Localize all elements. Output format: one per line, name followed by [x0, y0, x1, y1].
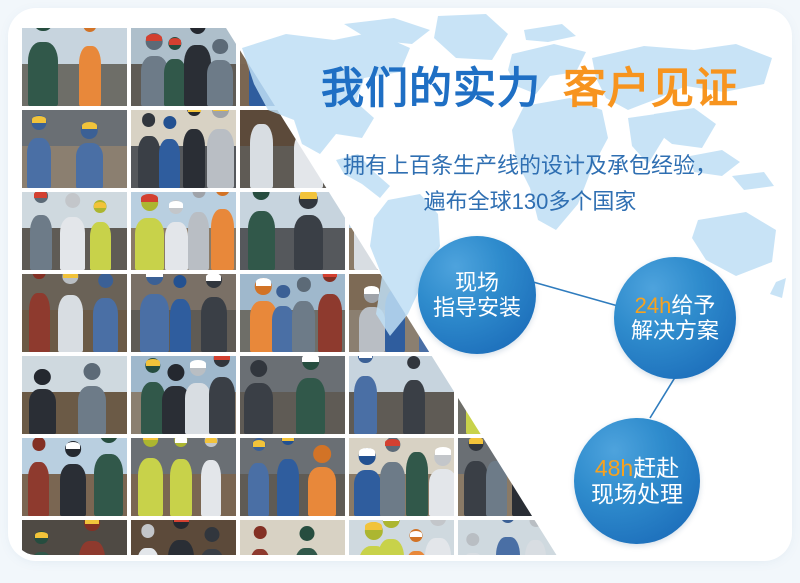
hard-hat-icon	[383, 520, 399, 521]
mosaic-photo	[240, 438, 345, 516]
photo-person	[429, 469, 454, 516]
hard-hat-icon	[359, 356, 372, 358]
photo-person	[211, 209, 235, 270]
banner-subtitle: 拥有上百条生产线的设计及承包经验， 遍布全球130多个国家	[280, 148, 780, 220]
photo-person	[58, 295, 83, 352]
hard-hat-icon	[359, 448, 375, 456]
photo-person	[296, 378, 324, 434]
mosaic-photo	[22, 520, 127, 555]
hard-hat-icon	[175, 438, 187, 443]
mosaic-photo	[22, 356, 127, 434]
photo-person	[272, 306, 294, 352]
mosaic-photo	[22, 192, 127, 270]
service-bubble-48h[interactable]: 48h赶赴 现场处理	[574, 418, 700, 544]
hard-hat-icon	[469, 438, 483, 444]
mosaic-photo	[131, 274, 236, 352]
hard-hat-icon	[385, 439, 399, 446]
photo-person	[28, 42, 58, 106]
mosaic-photo	[131, 28, 236, 106]
photo-person	[308, 467, 337, 516]
photo-person	[354, 376, 377, 434]
mosaic-photo	[131, 110, 236, 188]
photo-person	[29, 389, 55, 434]
hard-hat-icon	[256, 278, 271, 286]
bubble-48h-accent: 48h	[595, 455, 633, 481]
mosaic-photo	[131, 192, 236, 270]
bubble-24h-line2: 解决方案	[631, 318, 719, 343]
headline-primary: 我们的实力	[321, 65, 541, 113]
hard-hat-icon	[66, 442, 81, 449]
hard-hat-icon	[146, 359, 160, 366]
hard-hat-icon	[35, 532, 47, 538]
bubble-48h-line2: 现场处理	[591, 481, 683, 507]
hard-hat-icon	[141, 194, 157, 202]
photo-person	[170, 299, 191, 352]
hard-hat-icon	[143, 438, 158, 440]
mosaic-photo	[349, 356, 454, 434]
hard-hat-icon	[205, 438, 217, 443]
photo-person	[277, 459, 298, 516]
photo-person	[250, 124, 273, 188]
mosaic-photo	[131, 520, 236, 555]
photo-person	[496, 537, 519, 555]
photo-person	[185, 383, 211, 434]
photo-person	[93, 298, 118, 352]
photo-person	[354, 470, 381, 516]
hard-hat-icon	[169, 38, 181, 44]
photo-person	[30, 215, 52, 270]
subtitle-line-1: 拥有上百条生产线的设计及承包经验，	[280, 148, 780, 184]
photo-person	[60, 464, 85, 516]
hard-hat-icon	[190, 360, 205, 368]
photo-person	[318, 294, 341, 352]
bubble-24h-accent: 24h	[635, 293, 672, 318]
banner-headline: 我们的实力客户见证	[280, 68, 780, 111]
photo-person	[292, 301, 315, 352]
service-bubble-onsite[interactable]: 现场 指导安装	[418, 236, 536, 354]
photo-person	[140, 294, 168, 352]
hard-hat-icon	[82, 122, 98, 130]
photo-person	[135, 218, 163, 270]
hard-hat-icon	[282, 438, 294, 441]
photo-person	[248, 463, 269, 516]
hard-hat-icon	[85, 520, 100, 524]
mosaic-photo	[131, 356, 236, 434]
hard-hat-icon	[34, 192, 47, 198]
photo-person	[170, 459, 192, 516]
photo-person	[138, 136, 160, 188]
bubble-onsite-line2: 指导安装	[433, 295, 521, 320]
hard-hat-icon	[364, 286, 379, 294]
bubble-24h-line1: 24h给予	[635, 293, 716, 318]
photo-person	[94, 454, 123, 516]
headline-accent: 客户见证	[563, 65, 739, 113]
photo-person	[248, 211, 275, 270]
hard-hat-icon	[94, 202, 106, 208]
photo-person	[60, 217, 85, 270]
photo-person	[183, 129, 205, 188]
photo-person	[79, 46, 101, 106]
photo-person	[79, 541, 104, 555]
photo-person	[28, 462, 49, 516]
hard-hat-icon	[206, 274, 221, 281]
hard-hat-icon	[302, 356, 318, 362]
photo-person	[207, 60, 232, 106]
mosaic-photo	[22, 274, 127, 352]
hard-hat-icon	[188, 110, 201, 112]
photo-person	[209, 377, 236, 434]
photo-person	[29, 293, 49, 352]
photo-person	[165, 222, 188, 270]
mosaic-photo	[349, 438, 454, 516]
photo-person	[27, 138, 51, 188]
hard-hat-icon	[63, 274, 77, 278]
hard-hat-icon	[169, 201, 182, 208]
photo-person	[159, 139, 180, 188]
photo-person	[201, 297, 227, 352]
mosaic-photo	[240, 356, 345, 434]
photo-person	[188, 212, 209, 270]
photo-person	[78, 386, 105, 434]
banner-card: 我们的实力客户见证 拥有上百条生产线的设计及承包经验， 遍布全球130多个国家 …	[14, 14, 786, 555]
photo-person	[76, 143, 103, 188]
photo-person	[207, 129, 233, 188]
photo-person	[359, 307, 385, 352]
hard-hat-icon	[365, 522, 382, 531]
mosaic-photo	[22, 438, 127, 516]
photo-person	[425, 538, 451, 555]
subtitle-line-2: 遍布全球130多个国家	[280, 184, 780, 220]
hard-hat-icon	[146, 34, 162, 42]
banner-stage: 我们的实力客户见证 拥有上百条生产线的设计及承包经验， 遍布全球130多个国家 …	[0, 0, 800, 583]
photo-person	[138, 458, 163, 516]
hard-hat-icon	[435, 447, 451, 455]
photo-person	[406, 452, 428, 516]
photo-person	[201, 460, 222, 516]
mosaic-photo	[349, 520, 454, 555]
bubble-48h-line1: 48h赶赴	[595, 455, 679, 481]
hard-hat-icon	[323, 274, 337, 277]
mosaic-photo	[22, 110, 127, 188]
photo-person	[294, 215, 324, 270]
hard-hat-icon	[174, 520, 189, 522]
hard-hat-icon	[146, 274, 162, 277]
hard-hat-icon	[214, 356, 229, 360]
hard-hat-icon	[213, 110, 228, 111]
mosaic-photo	[240, 520, 345, 555]
photo-person	[244, 383, 272, 434]
hard-hat-icon	[253, 440, 265, 446]
mosaic-photo	[131, 438, 236, 516]
photo-person	[164, 59, 185, 106]
bubble-onsite-line1: 现场	[455, 270, 499, 295]
hard-hat-icon	[410, 531, 422, 537]
mosaic-photo	[22, 28, 127, 106]
photo-person	[90, 222, 111, 270]
photo-person	[403, 380, 425, 434]
service-bubble-24h[interactable]: 24h给予 解决方案	[614, 257, 736, 379]
photo-person	[464, 461, 488, 516]
hard-hat-icon	[32, 116, 46, 123]
mosaic-photo	[240, 274, 345, 352]
photo-person	[380, 462, 405, 516]
